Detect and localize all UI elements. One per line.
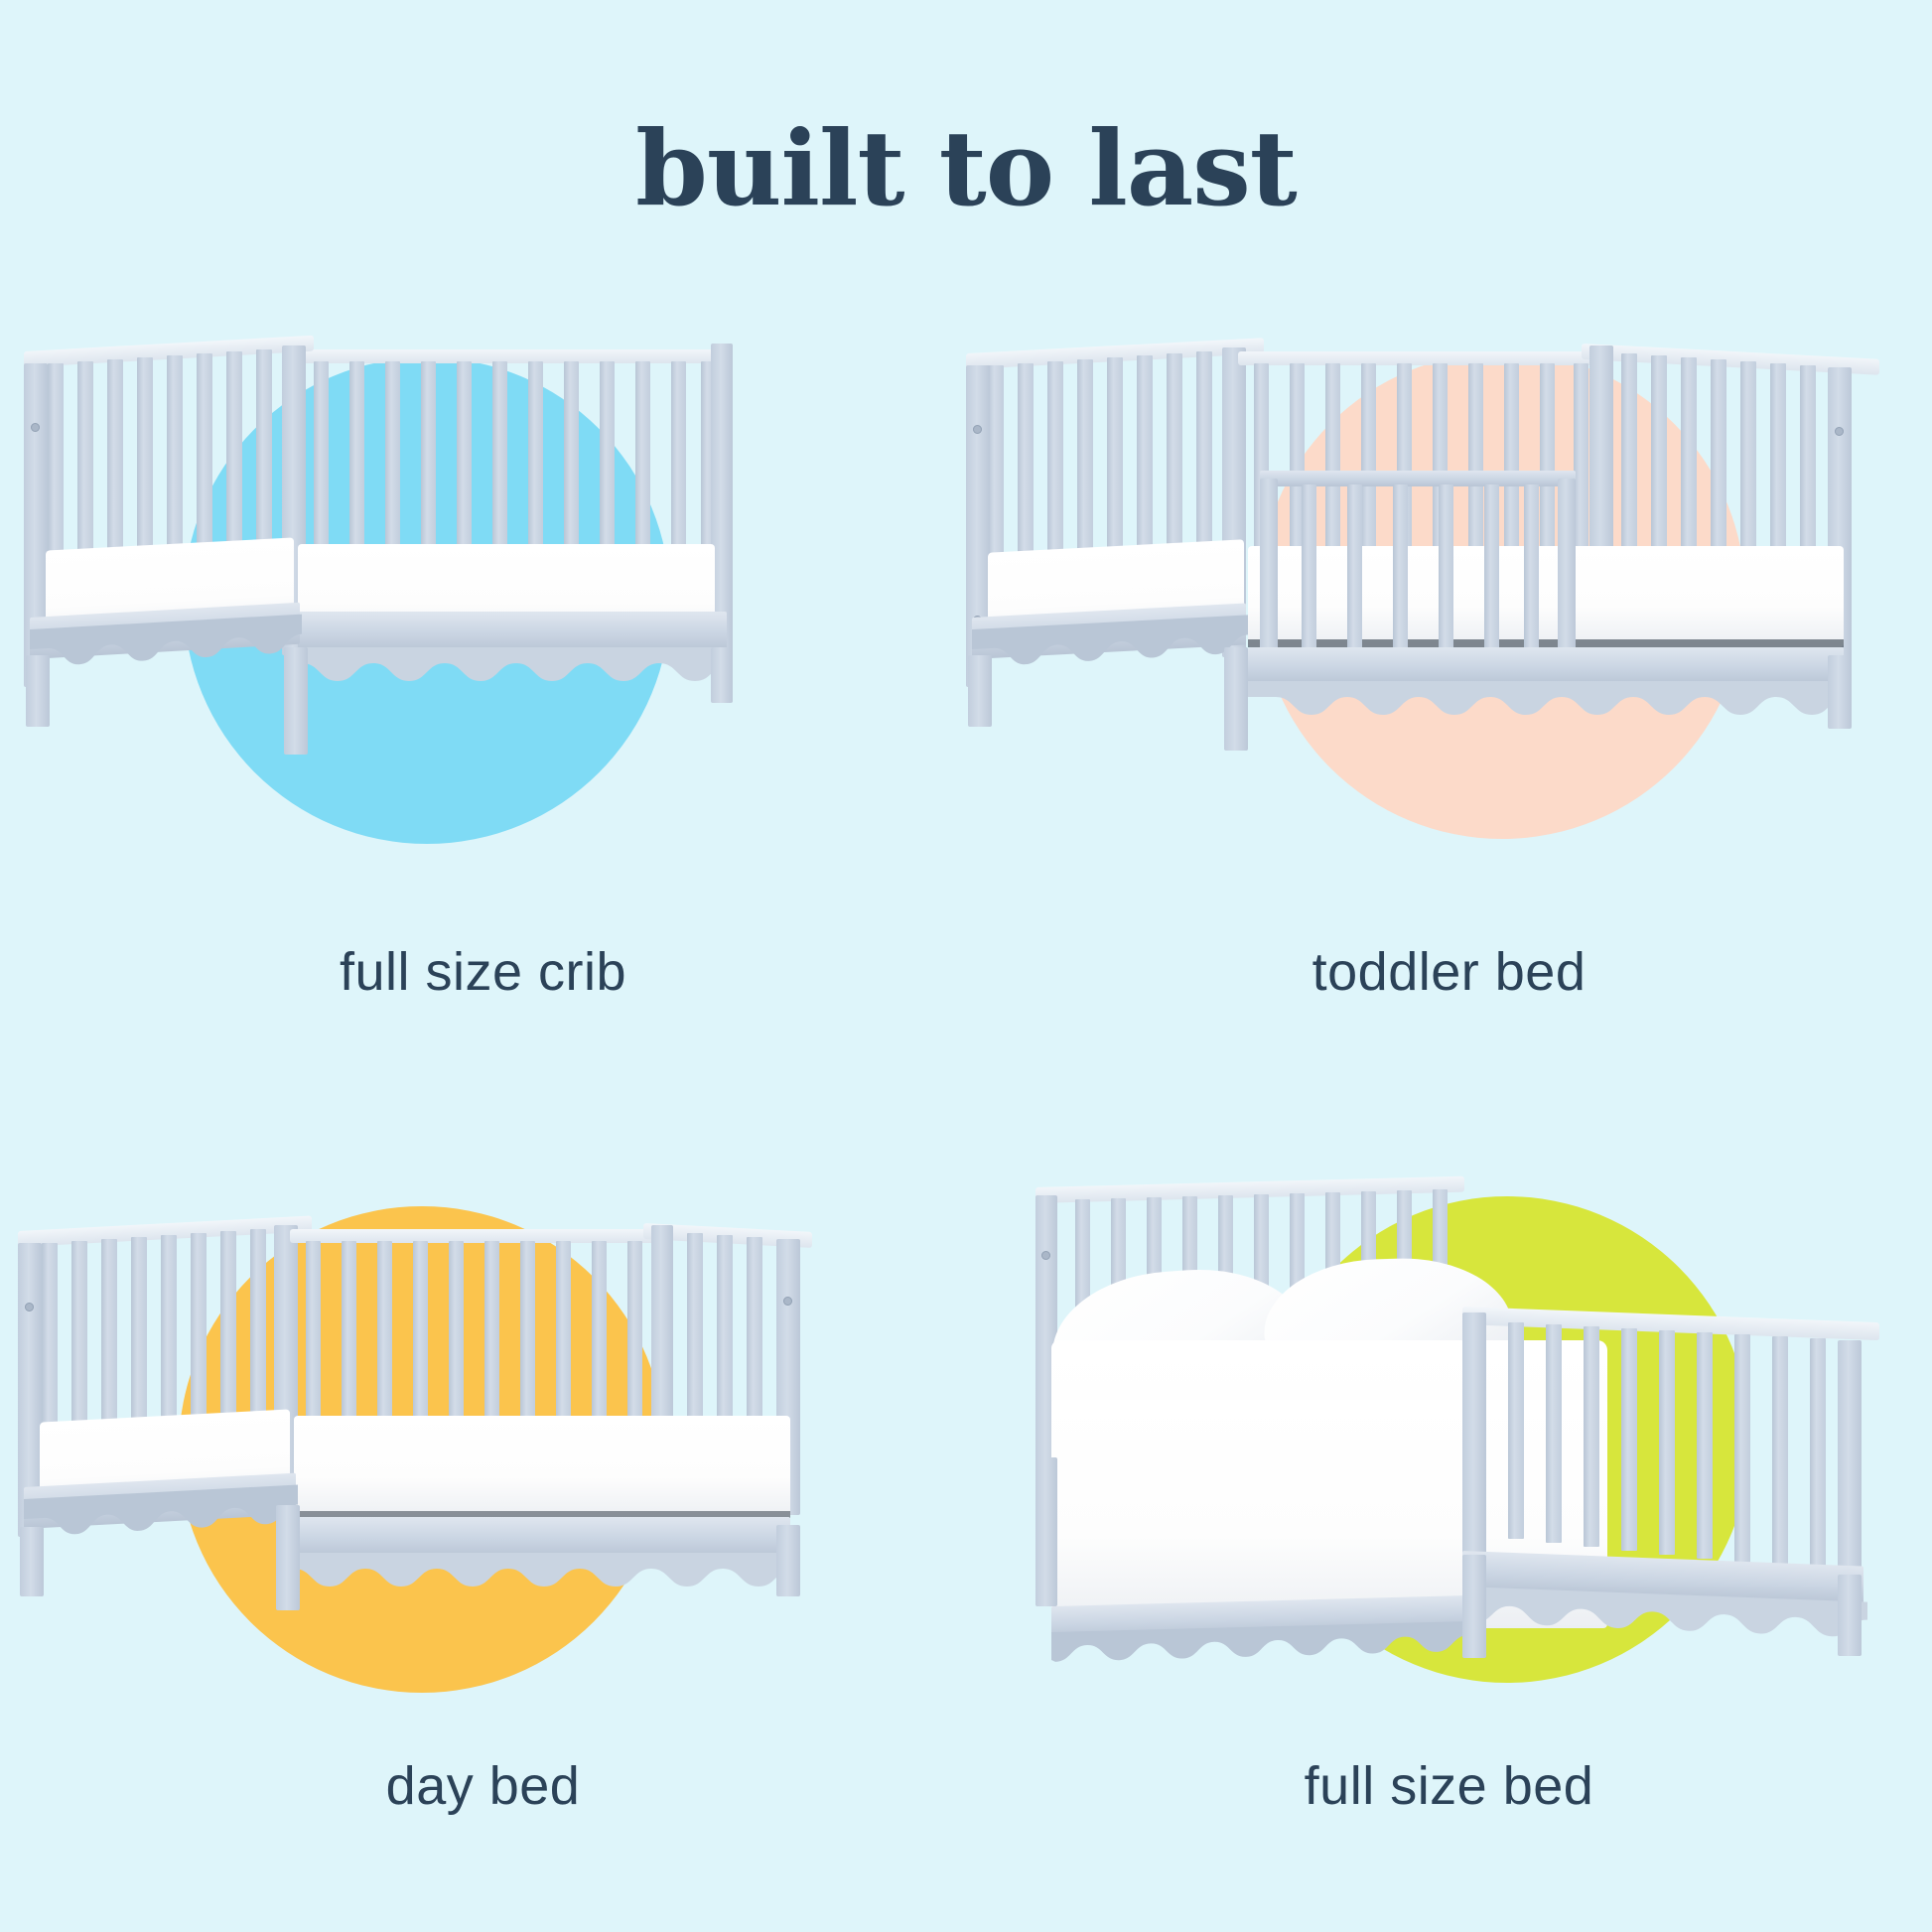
product-cell-day-bed[interactable]: day bed xyxy=(0,1112,966,1926)
scalloped-trim-front xyxy=(298,647,731,685)
toddler-bed-illustration xyxy=(966,298,1932,933)
day-bed-illustration xyxy=(0,1112,966,1747)
product-stage-full-size-crib xyxy=(0,298,966,933)
crib-illustration xyxy=(0,298,966,933)
product-label-toddler-bed: toddler bed xyxy=(966,941,1932,1003)
product-label-day-bed: day bed xyxy=(0,1755,966,1817)
product-cell-full-size-bed[interactable]: full size bed xyxy=(966,1112,1932,1926)
product-label-full-size-bed: full size bed xyxy=(966,1755,1932,1817)
toddler-guardrail xyxy=(1260,471,1576,655)
product-stage-day-bed xyxy=(0,1112,966,1747)
product-stage-toddler-bed xyxy=(966,298,1932,933)
scalloped-trim-front xyxy=(1248,681,1848,719)
product-label-full-size-crib: full size crib xyxy=(0,941,966,1003)
scalloped-trim-front xyxy=(294,1553,794,1590)
product-stage-full-size-bed xyxy=(966,1112,1932,1747)
page-title: built to last xyxy=(0,117,1932,220)
product-cell-full-size-crib[interactable]: full size crib xyxy=(0,298,966,1112)
product-grid: full size crib xyxy=(0,298,1932,1926)
infographic-page: built to last xyxy=(0,0,1932,1932)
full-size-bed-illustration xyxy=(966,1112,1932,1747)
product-cell-toddler-bed[interactable]: toddler bed xyxy=(966,298,1932,1112)
